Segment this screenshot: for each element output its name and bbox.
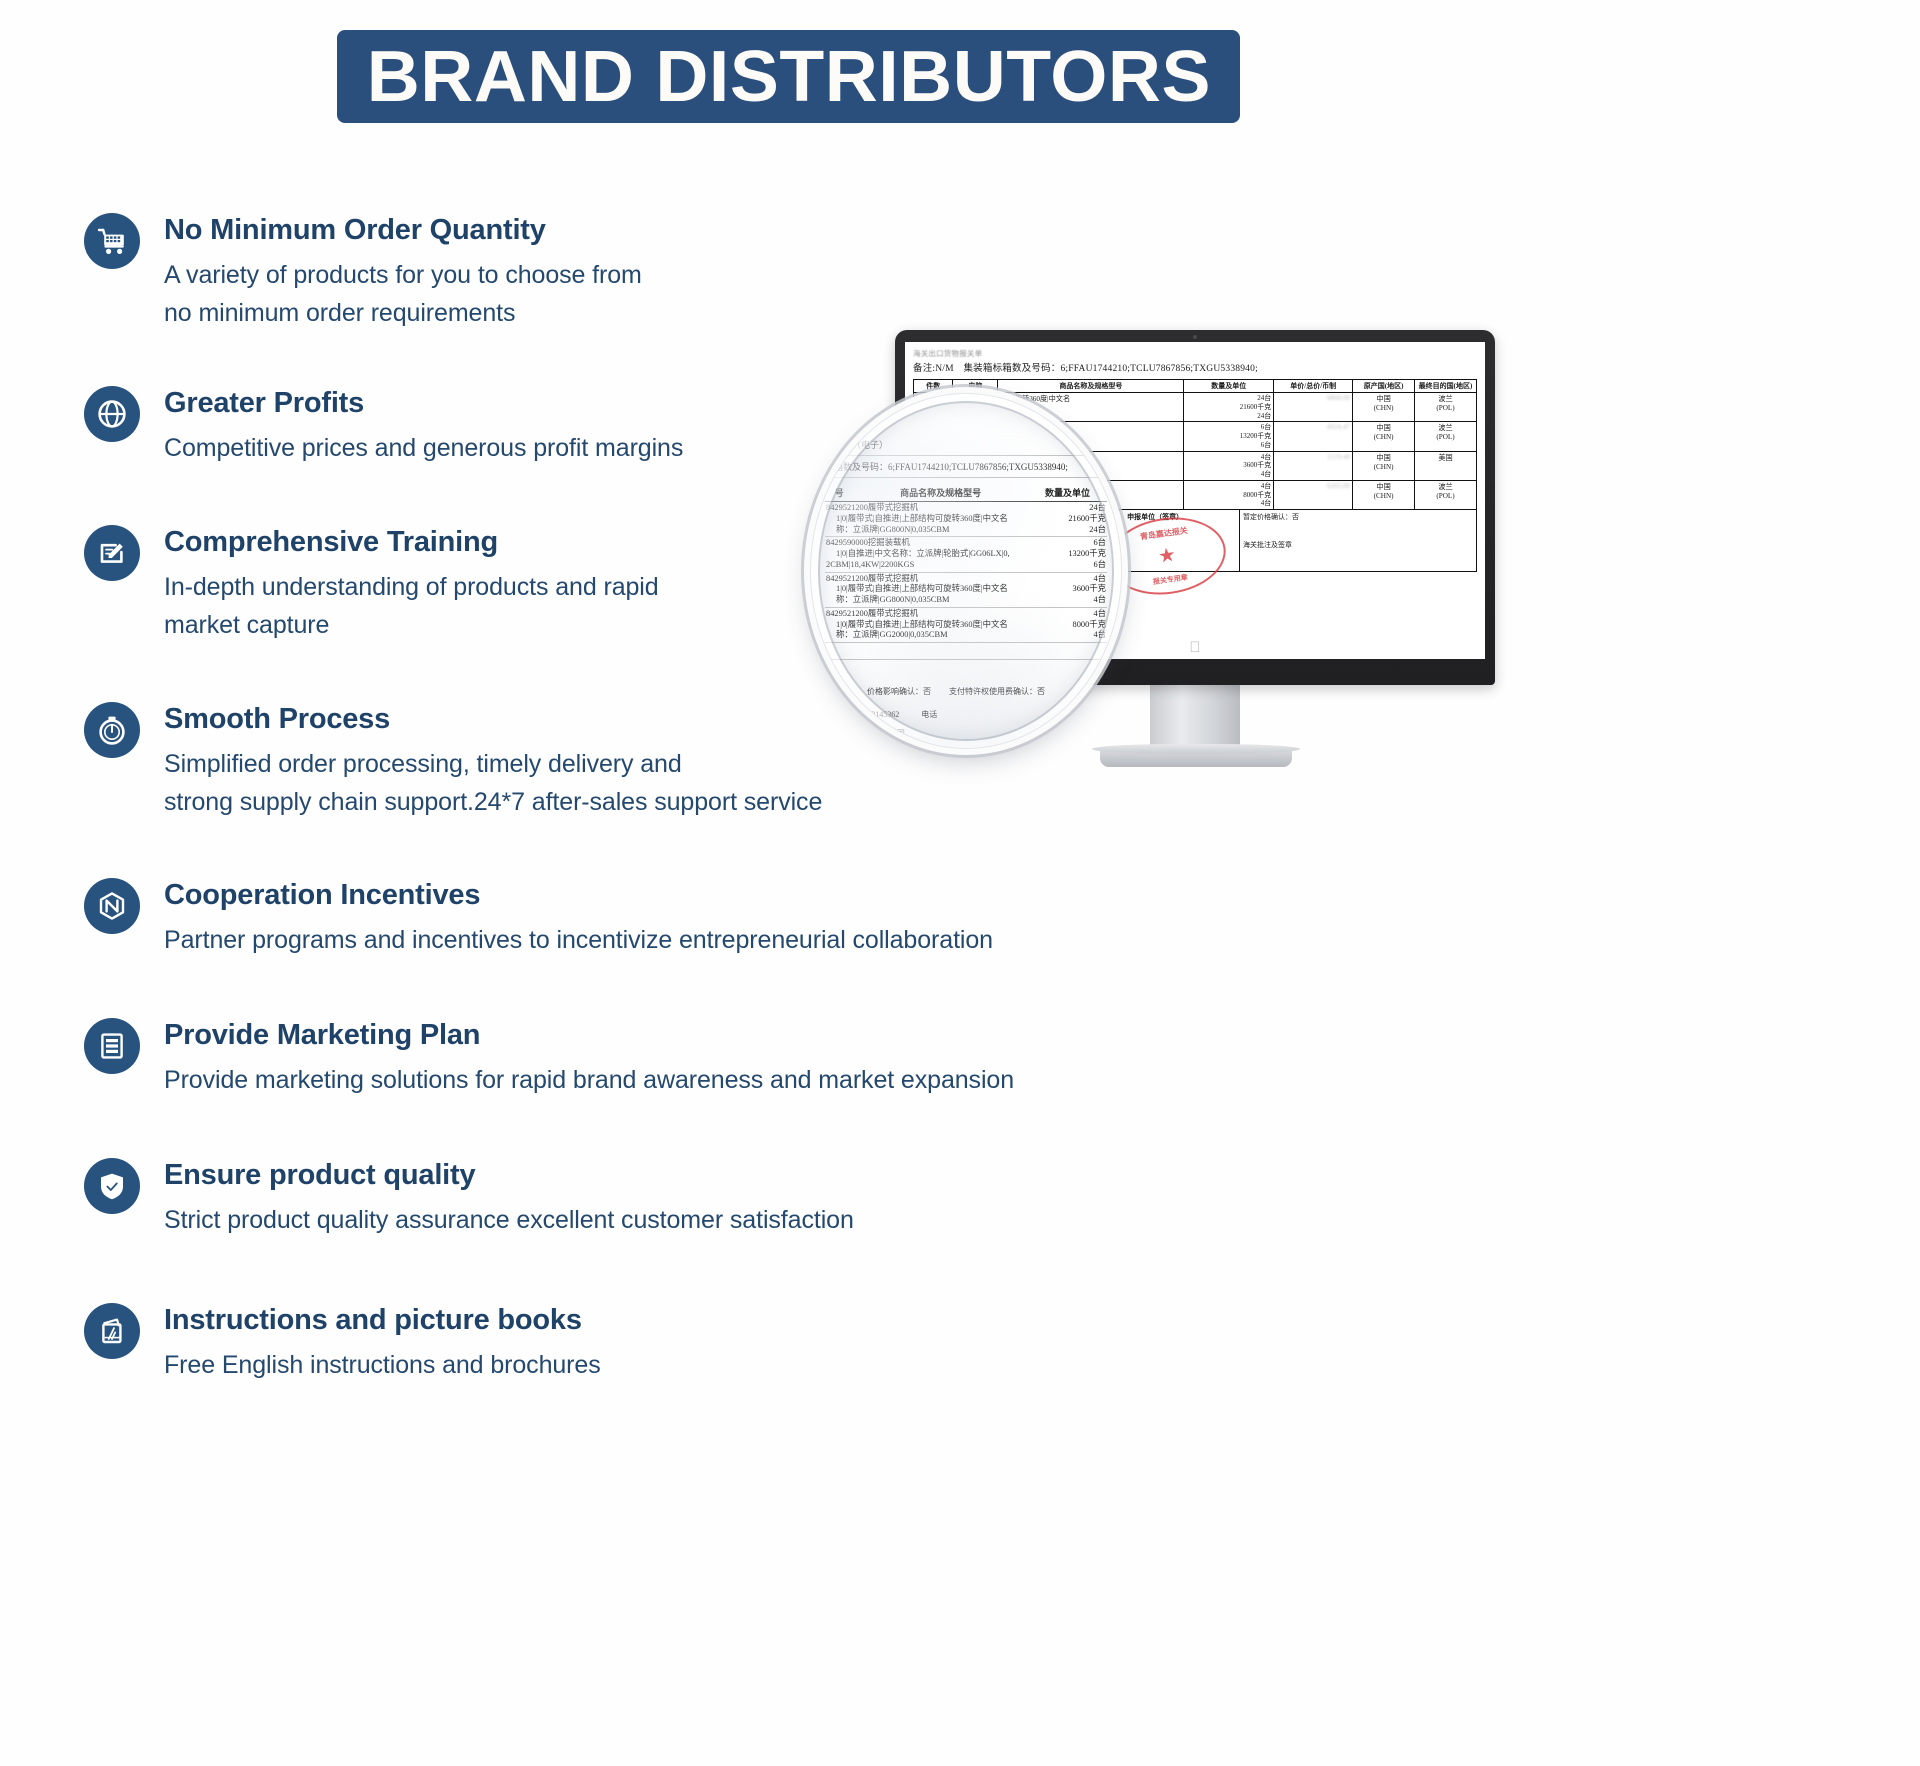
feature-description: Partner programs and incentives to incen… [164,921,993,959]
magnified-header-row: 号 商品名称及规格型号 数量及单位 [825,484,1107,502]
feature-item-smooth-process: Smooth Process Simplified order processi… [84,702,822,821]
document-remark: 备注:N/M 集装箱标箱数及号码：6;FFAU1744210;TCLU78678… [913,360,1477,374]
magnified-bottom-4: 员人员证号:42145362 [825,709,899,720]
feature-description: A variety of products for you to choose … [164,256,642,332]
feature-desc-line: no minimum order requirements [164,294,642,332]
cell-origin: 中国 (CHN) [1353,480,1415,509]
feature-item-provide-marketing-plan: Provide Marketing Plan Provide marketing… [84,1018,1014,1099]
document-lines-icon [84,1018,140,1074]
column-header: 商品名称及规格型号 [853,484,1028,502]
feature-desc-line: A variety of products for you to choose … [164,256,642,294]
feature-item-cooperation-incentives: Cooperation Incentives Partner programs … [84,878,993,959]
column-header: 原产国(地区) [1353,380,1415,393]
shopping-cart-icon [84,213,140,269]
cell-destination: 美国 [1415,451,1477,480]
magnified-table: 号 商品名称及规格型号 数量及单位 8429521200履带式挖掘机 1|0|履… [825,484,1107,643]
magnified-row: 8429521200履带式挖掘机 1|0|履带式|自推进|上部结构可旋转360度… [825,502,1107,537]
apple-logo-icon:  [1189,640,1200,655]
feature-desc-line: Partner programs and incentives to incen… [164,921,993,959]
cell-destination: 波兰 (POL) [1415,480,1477,509]
table-header-row: 件数 电脑 商品名称及规格型号 数量及单位 单价/总价/币制 原产国(地区) 最… [914,380,1477,393]
cell-qty: 24台21600千克24台 [1184,393,1274,422]
magnified-cell-goods: 8429521200履带式挖掘机 1|0|履带式|自推进|上部结构可旋转360度… [825,607,1028,642]
magnified-cell-goods: 8429590000挖掘装载机 1|0|自推进|中文名称：立派牌|轮胎式|GG0… [825,537,1028,572]
stamp-top-text: 青岛嘉达报关 [1107,521,1221,547]
magnified-row: 8429521200履带式挖掘机 1|0|履带式|自推进|上部结构可旋转360度… [825,572,1107,607]
cell-price: 1119.40 [1274,451,1353,480]
feature-title: No Minimum Order Quantity [164,213,642,247]
feature-title: Instructions and picture books [164,1303,601,1337]
feature-item-instructions-and-picture-books: Instructions and picture books Free Engl… [84,1303,601,1384]
feature-desc-line: Free English instructions and brochures [164,1346,601,1384]
feature-description: In-depth understanding of products and r… [164,568,659,644]
page-title: BRAND DISTRIBUTORS [366,41,1210,113]
magnified-cell-qty: 4台 3600千克 4台 [1028,572,1107,607]
cell-price: 4924.47 [1274,422,1353,451]
feature-desc-line: Competitive prices and generous profit m… [164,429,683,467]
handshake-hexagon-icon [84,878,140,934]
feature-description: Simplified order processing, timely deli… [164,745,822,821]
feature-desc-line: In-depth understanding of products and r… [164,568,659,606]
cell-destination: 波兰 (POL) [1415,422,1477,451]
feature-body: Cooperation Incentives Partner programs … [164,878,993,959]
feature-title: Cooperation Incentives [164,878,993,912]
feature-desc-line: market capture [164,606,659,644]
magnified-bottom-5: 电话 [921,709,937,720]
stamp-star-icon: ★ [1158,544,1176,568]
feature-body: Instructions and picture books Free Engl… [164,1303,601,1384]
feature-body: Smooth Process Simplified order processi… [164,702,822,821]
cell-price: 6868.00 [1274,393,1353,422]
monitor-base [1100,750,1292,767]
magnified-cell-qty: 6台 13200千克 6台 [1028,537,1107,572]
column-header: 数量及单位 [1184,380,1274,393]
column-header: 单价/总价/币制 [1274,380,1353,393]
feature-body: Comprehensive Training In-depth understa… [164,525,659,644]
feature-title: Ensure product quality [164,1158,854,1192]
magnified-line-2: 回箱数及号码：6;FFAU1744210;TCLU7867856;TXGU533… [825,456,1107,478]
magnified-cell-goods: 8429521200履带式挖掘机 1|0|履带式|自推进|上部结构可旋转360度… [825,502,1028,537]
magnified-bottom-2: 价格影响确认：否 [867,686,931,697]
magnified-line-1: 度尚大（电子） [825,434,1107,456]
magnified-bottom-3: 支付特许权使用费确认：否 [949,686,1045,697]
feature-item-greater-profits: Greater Profits Competitive prices and g… [84,386,683,467]
document-top-note: 海关出口货物报关单 [913,348,1477,359]
feature-desc-line: Strict product quality assurance excelle… [164,1201,854,1239]
cell-origin: 中国 (CHN) [1353,451,1415,480]
header-banner: BRAND DISTRIBUTORS [337,30,1240,123]
brand-distributors-infographic: BRAND DISTRIBUTORS [0,0,1920,1766]
footer-customs-block: 暂定价格确认：否 海关批注及签章 [1240,510,1476,571]
magnified-row: 8429521200履带式挖掘机 1|0|履带式|自推进|上部结构可旋转360度… [825,607,1107,642]
feature-body: Provide Marketing Plan Provide marketing… [164,1018,1014,1099]
cell-price: 6265.00 [1274,480,1353,509]
column-header: 商品名称及规格型号 [998,380,1184,393]
cell-qty: 6台13200千克6台 [1184,422,1274,451]
magnified-cell-qty: 4台 8000千克 4台 [1028,607,1107,642]
footer-temp-price-confirm: 暂定价格确认：否 [1243,512,1473,522]
cell-origin: 中国 (CHN) [1353,422,1415,451]
magnifier-lens: 度尚大（电子） 回箱数及号码：6;FFAU1744210;TCLU7867856… [810,393,1122,749]
magnified-bottom-6: 青岛嘉达报关有限公司 [825,729,905,738]
feature-body: No Minimum Order Quantity A variety of p… [164,213,642,332]
column-header: 电脑 [953,380,998,393]
feature-title: Provide Marketing Plan [164,1018,1014,1052]
feature-item-no-minimum-order-quantity: No Minimum Order Quantity A variety of p… [84,213,642,332]
stopwatch-icon [84,702,140,758]
monitor-camera-icon [1193,335,1197,339]
feature-description: Free English instructions and brochures [164,1346,601,1384]
column-header: 件数 [914,380,953,393]
feature-title: Greater Profits [164,386,683,420]
feature-desc-line: Simplified order processing, timely deli… [164,745,822,783]
feature-desc-line: Provide marketing solutions for rapid br… [164,1061,1014,1099]
column-header: 最终目的国(地区) [1415,380,1477,393]
cell-qty: 4台3600千克4台 [1184,451,1274,480]
feature-desc-line: strong supply chain support.24*7 after-s… [164,783,822,821]
cell-origin: 中国 (CHN) [1353,393,1415,422]
magnified-cell-qty: 24台 21600千克 24台 [1028,502,1107,537]
feature-title: Comprehensive Training [164,525,659,559]
magnified-cell-goods: 8429521200履带式挖掘机 1|0|履带式|自推进|上部结构可旋转360度… [825,572,1028,607]
column-header: 数量及单位 [1028,484,1107,502]
shield-check-icon [84,1158,140,1214]
footer-customs-label: 海关批注及签章 [1243,540,1473,550]
globe-icon [84,386,140,442]
feature-body: Ensure product quality Strict product qu… [164,1158,854,1239]
magnified-row: 8429590000挖掘装载机 1|0|自推进|中文名称：立派牌|轮胎式|GG0… [825,537,1107,572]
magnified-bottom-1: 人：否 [825,686,849,697]
magnifier-content: 度尚大（电子） 回箱数及号码：6;FFAU1744210;TCLU7867856… [811,394,1121,748]
edit-pencil-icon [84,525,140,581]
feature-description: Strict product quality assurance excelle… [164,1201,854,1239]
books-icon [84,1303,140,1359]
feature-description: Provide marketing solutions for rapid br… [164,1061,1014,1099]
column-header: 号 [825,484,853,502]
cell-qty: 4台8000千克4台 [1184,480,1274,509]
cell-destination: 波兰 (POL) [1415,393,1477,422]
feature-title: Smooth Process [164,702,822,736]
feature-item-comprehensive-training: Comprehensive Training In-depth understa… [84,525,659,644]
feature-description: Competitive prices and generous profit m… [164,429,683,467]
feature-body: Greater Profits Competitive prices and g… [164,386,683,467]
feature-item-ensure-product-quality: Ensure product quality Strict product qu… [84,1158,854,1239]
